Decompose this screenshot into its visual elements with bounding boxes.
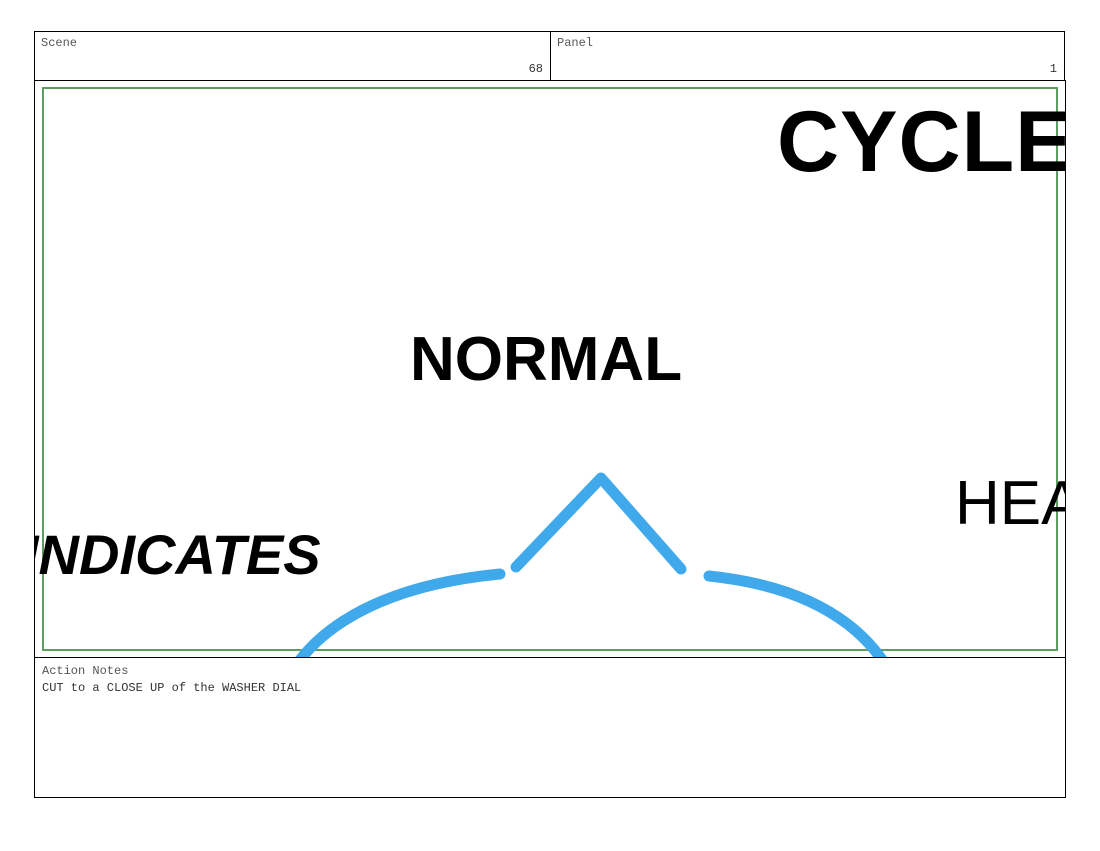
scene-field[interactable]: Scene 68	[34, 31, 551, 81]
panel-label: Panel	[557, 36, 1058, 50]
action-notes-box[interactable]: Action Notes CUT to a CLOSE UP of the WA…	[34, 657, 1066, 798]
scene-number: 68	[529, 62, 543, 76]
panel-field[interactable]: Panel 1	[550, 31, 1065, 81]
panel-meta-row: Scene 68 Panel 1	[34, 31, 1066, 81]
panel-number: 1	[1050, 62, 1057, 76]
action-notes-label: Action Notes	[42, 663, 1058, 680]
storyboard-panel: Scene 68 Panel 1 CYCLE NORMAL HEAVY INDI…	[34, 31, 1066, 798]
scene-label: Scene	[41, 36, 544, 50]
artwork-inner-border	[42, 87, 1058, 651]
artwork-frame[interactable]: CYCLE NORMAL HEAVY INDICATES	[34, 80, 1066, 658]
action-notes-text: CUT to a CLOSE UP of the WASHER DIAL	[42, 680, 1058, 697]
